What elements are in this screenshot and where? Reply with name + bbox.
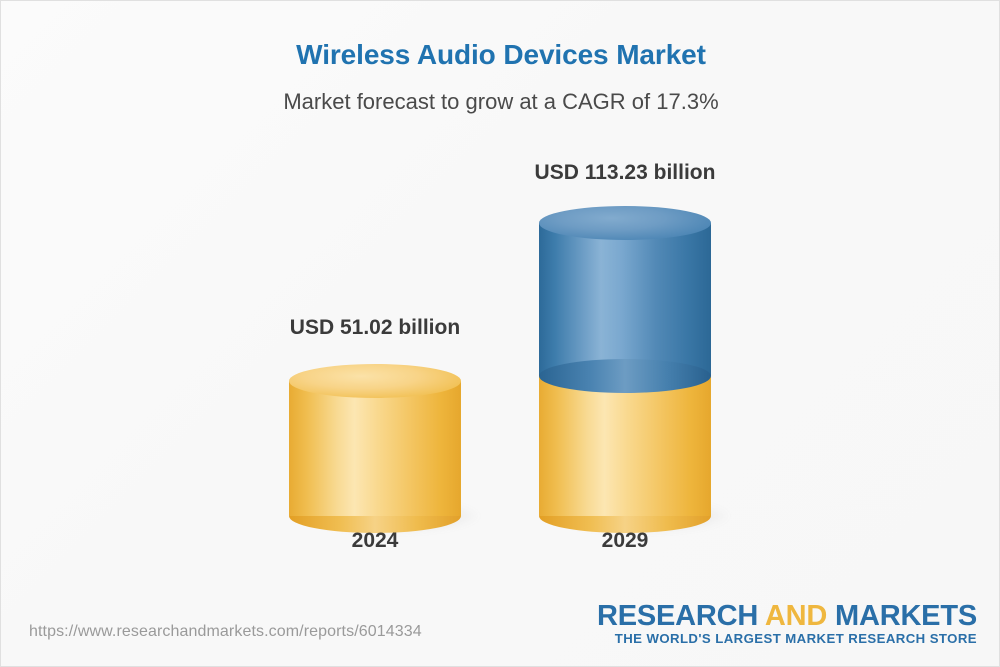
source-url[interactable]: https://www.researchandmarkets.com/repor… bbox=[29, 623, 422, 641]
logo-wordmark: RESEARCH AND MARKETS bbox=[597, 601, 977, 631]
chart-canvas: Wireless Audio Devices Market Market for… bbox=[0, 0, 1000, 667]
category-label-2024: 2024 bbox=[289, 529, 461, 553]
logo[interactable]: RESEARCH AND MARKETS THE WORLD'S LARGEST… bbox=[597, 601, 977, 648]
cylinder-segment-blue bbox=[539, 223, 711, 376]
cylinder-segment-divider-cap bbox=[539, 359, 711, 393]
logo-word-and: AND bbox=[765, 600, 827, 632]
logo-tagline: THE WORLD'S LARGEST MARKET RESEARCH STOR… bbox=[597, 631, 977, 648]
category-label-2029: 2029 bbox=[539, 529, 711, 553]
value-label-2029: USD 113.23 billion bbox=[465, 161, 785, 185]
logo-word-markets: MARKETS bbox=[835, 600, 977, 632]
plot-area: USD 51.02 billion 2024 USD 113.23 billio… bbox=[1, 1, 1000, 601]
cylinder-top-cap bbox=[539, 206, 711, 240]
logo-word-research: RESEARCH bbox=[597, 600, 758, 632]
value-label-2024: USD 51.02 billion bbox=[215, 316, 535, 340]
cylinder-segment-gold bbox=[539, 374, 711, 516]
cylinder-top-cap bbox=[289, 364, 461, 398]
cylinder-body-gold bbox=[289, 381, 461, 516]
